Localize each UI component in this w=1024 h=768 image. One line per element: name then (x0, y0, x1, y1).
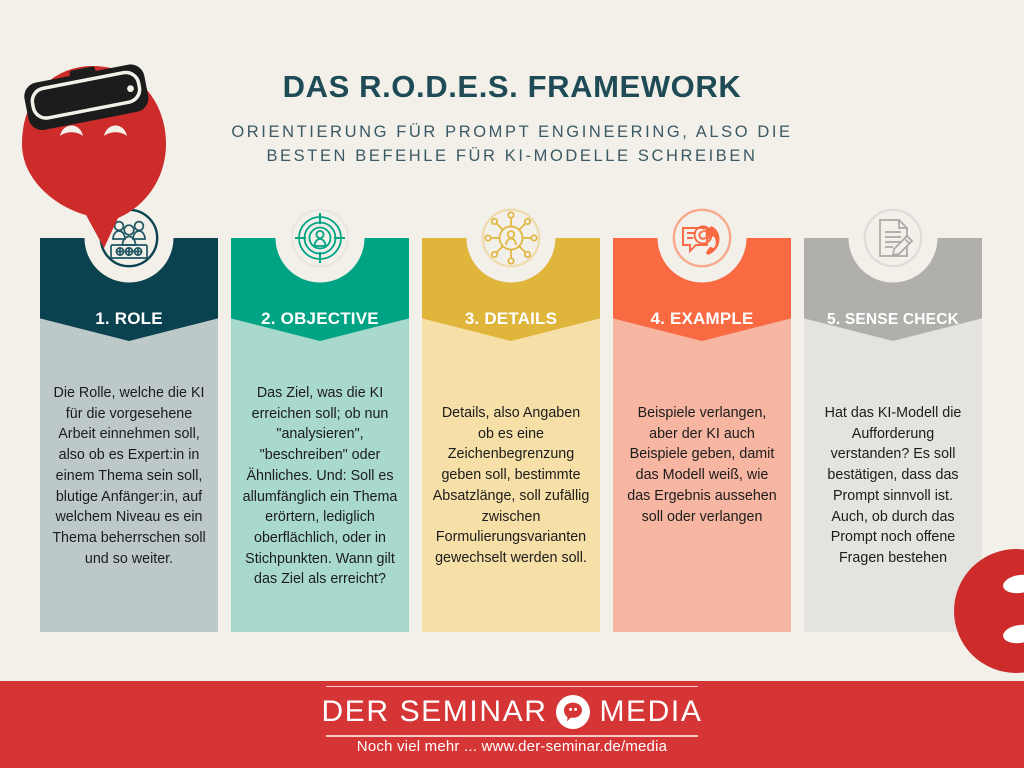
column-label-objective: 2. OBJECTIVE (261, 309, 379, 329)
column-label-details: 3. DETAILS (465, 309, 557, 329)
chat-email-phone-icon (660, 196, 744, 280)
target-person-icon (278, 196, 362, 280)
column-body-details: Details, also Angaben ob es eine Zeichen… (422, 317, 600, 632)
column-label-sense-check: 5. SENSE CHECK (827, 311, 959, 329)
brand-logo[interactable]: DER SEMINAR MEDIA (322, 695, 703, 729)
subtitle-line-1: ORIENTIERUNG FÜR PROMPT ENGINEERING, ALS… (0, 121, 1024, 145)
red-mascot-partial (944, 546, 1024, 676)
column-objective[interactable]: 2. OBJECTIVE Das Ziel, was die KI erreic… (231, 238, 409, 632)
framework-columns: 1. ROLE Die Rolle, welche die KI für die… (40, 238, 984, 632)
page-title: DAS R.O.D.E.S. FRAMEWORK (0, 68, 1024, 107)
subtitle-line-2: BESTEN BEFEHLE FÜR KI-MODELLE SCHREIBEN (0, 145, 1024, 169)
footer-tagline: Noch viel mehr ... www.der-seminar.de/me… (357, 738, 667, 755)
column-example[interactable]: 4. EXAMPLE Beispiele verlangen, aber der… (613, 238, 791, 632)
column-role[interactable]: 1. ROLE Die Rolle, welche die KI für die… (40, 238, 218, 632)
column-body-example: Beispiele verlangen, aber der KI auch Be… (613, 317, 791, 632)
brand-name-left: DER SEMINAR (322, 695, 548, 729)
column-body-objective: Das Ziel, was die KI erreichen soll; ob … (231, 317, 409, 632)
team-people-icon (87, 196, 171, 280)
page-subtitle: ORIENTIERUNG FÜR PROMPT ENGINEERING, ALS… (0, 121, 1024, 169)
logo-rule-top (326, 686, 699, 688)
column-details[interactable]: 3. DETAILS Details, also Angaben ob es e… (422, 238, 600, 632)
column-label-example: 4. EXAMPLE (650, 309, 753, 329)
speech-bubble-smiley-icon (556, 695, 590, 729)
header: DAS R.O.D.E.S. FRAMEWORK ORIENTIERUNG FÜ… (0, 68, 1024, 169)
brand-name-right: MEDIA (599, 695, 702, 729)
footer-brand-bar: DER SEMINAR MEDIA Noch viel mehr ... www… (0, 681, 1024, 768)
logo-rule-bottom (326, 735, 699, 737)
column-label-role: 1. ROLE (95, 309, 163, 329)
document-pencil-icon (851, 196, 935, 280)
network-hub-person-icon (469, 196, 553, 280)
column-body-role: Die Rolle, welche die KI für die vorgese… (40, 317, 218, 632)
